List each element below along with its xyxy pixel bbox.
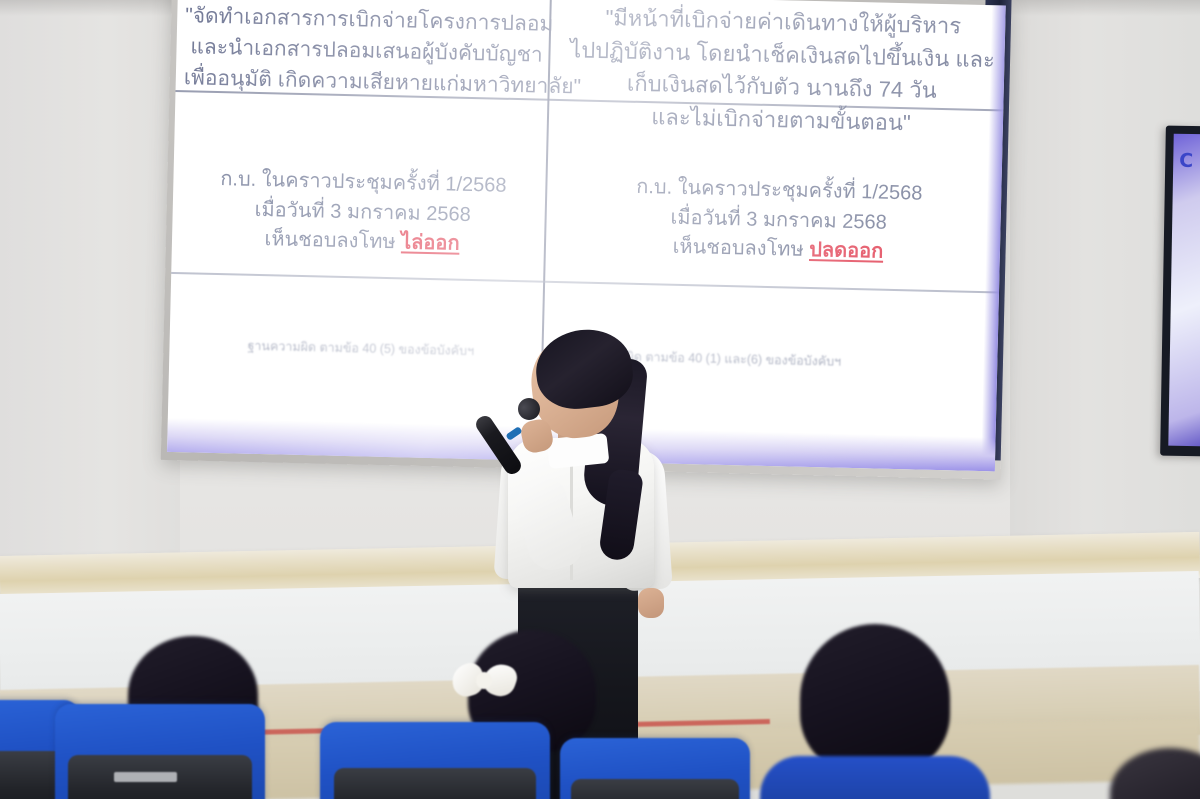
verdict-right: ปลดออก: [809, 239, 884, 263]
seat-label-tab: [114, 772, 177, 782]
slide-right-meeting: ก.บ. ในคราวประชุมครั้งที่ 1/2568 เมื่อวั…: [558, 171, 1000, 270]
seat-lower-back: [571, 779, 738, 799]
wall-panel-left: [0, 0, 180, 560]
slide-left-quote: "จัดทำเอกสารการเบิกจ่ายโครงการปลอม และนำ…: [183, 0, 549, 102]
audience-seat: [320, 722, 550, 799]
side-monitor-logo-icon: C: [1179, 150, 1193, 172]
verdict-prefix: เห็นชอบลงโทษ: [264, 228, 401, 253]
verdict-left: ไล่ออก: [401, 232, 460, 255]
audience-seat: [560, 738, 750, 799]
side-display-monitor: C: [1160, 126, 1200, 457]
hair-bow-accessory: [452, 664, 516, 698]
slide-right-quote: "มีหน้าที่เบิกจ่ายค่าเดินทางให้ผู้บริหาร…: [561, 1, 1004, 142]
photo-scene: "จัดทำเอกสารการเบิกจ่ายโครงการปลอม และนำ…: [0, 0, 1200, 799]
presenter-collar: [547, 433, 610, 469]
audience-seat: [55, 704, 265, 799]
microphone-blue-band: [505, 426, 522, 441]
audience-shoulders: [760, 756, 990, 799]
audience-head: [800, 624, 950, 774]
verdict-prefix: เห็นชอบลงโทษ: [672, 236, 809, 261]
slide-table-horizontal-line-bottom: [167, 272, 1005, 294]
side-monitor-screen: C: [1168, 134, 1200, 447]
slide-cut-off-header: [238, 0, 578, 1]
presenter-hand-right: [638, 588, 664, 618]
seat-lower-back: [334, 768, 536, 799]
slide-left-meeting: ก.บ. ในคราวประชุมครั้งที่ 1/2568 เมื่อวั…: [180, 164, 546, 261]
hair-bow-knot: [476, 672, 492, 689]
microphone-body: [473, 413, 524, 477]
slide-left-footnote: ฐานความผิด ตามข้อ 40 (5) ของข้อบังคับฯ: [247, 336, 474, 361]
